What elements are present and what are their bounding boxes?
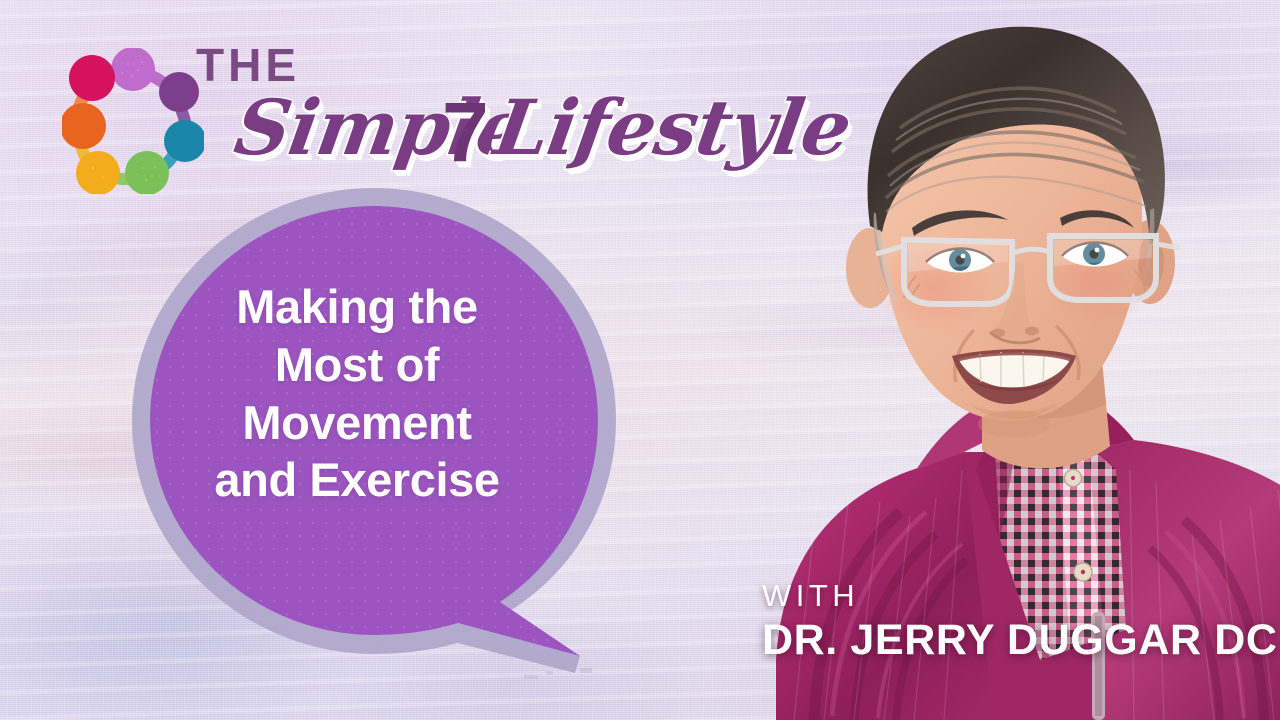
episode-title-line-2: Most of — [162, 336, 552, 394]
presenter-credit: WITH DR. JERRY DUGGAR DC — [762, 580, 1278, 664]
episode-title-line-4: and Exercise — [162, 451, 552, 509]
simple-7-ring-logo-icon — [62, 48, 204, 194]
with-label: WITH — [762, 580, 1278, 613]
brand-number-seven: 7 — [442, 84, 489, 180]
episode-title-speech-bubble: Making the Most of Movement and Exercise — [128, 182, 648, 702]
episode-title-line-3: Movement — [162, 394, 552, 452]
episode-title-line-1: Making the — [162, 278, 552, 336]
presenter-name: DR. JERRY DUGGAR DC — [762, 616, 1278, 664]
title-card: THE Simple 7 Lifestyle — [0, 0, 1280, 720]
episode-title-text: Making the Most of Movement and Exercise — [162, 278, 552, 509]
